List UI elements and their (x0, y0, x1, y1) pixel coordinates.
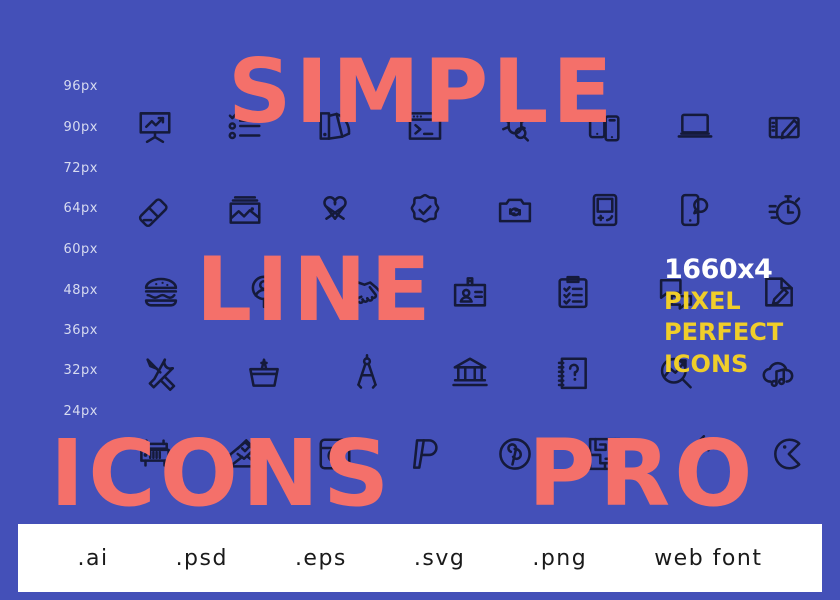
verified-badge-icon[interactable] (406, 191, 444, 229)
size-label-32: 32px (64, 363, 99, 378)
user-profile-icon[interactable] (245, 273, 283, 311)
format-webfont: web font (654, 546, 762, 571)
promo-block: 1660x4 PIXEL PERFECT ICONS (664, 254, 836, 379)
icon-count-label: 1660x4 (664, 254, 836, 285)
color-swatch-icon[interactable] (316, 107, 354, 145)
size-label-24: 24px (64, 404, 99, 419)
format-png: .png (532, 546, 587, 571)
checklist-icon[interactable] (226, 107, 264, 145)
icon-cell[interactable] (470, 182, 560, 238)
icon-cell[interactable] (316, 264, 419, 320)
terminal-window-icon[interactable] (406, 107, 444, 145)
format-eps: .eps (295, 546, 347, 571)
icon-cell[interactable] (740, 98, 830, 154)
eraser-icon[interactable] (136, 191, 174, 229)
stopwatch-icon[interactable] (766, 191, 804, 229)
paypal-icon[interactable] (406, 435, 444, 473)
basket-icon[interactable] (245, 354, 283, 392)
icon-cell[interactable] (740, 426, 830, 482)
icon-cell[interactable] (110, 182, 200, 238)
size-label-90: 90px (64, 120, 99, 135)
format-ai: .ai (77, 546, 108, 571)
icon-row-1 (110, 98, 830, 154)
instagram-icon[interactable] (316, 435, 354, 473)
icon-cell[interactable] (110, 426, 200, 482)
size-label-96: 96px (64, 79, 99, 94)
jeep-icon[interactable] (136, 435, 174, 473)
icon-cell[interactable] (110, 345, 213, 401)
icon-cell[interactable] (213, 345, 316, 401)
icon-cell[interactable] (200, 98, 290, 154)
bug-search-icon[interactable] (496, 107, 534, 145)
promo-line-pixel: PIXEL (664, 287, 836, 316)
rocket-arrow-icon[interactable] (676, 435, 714, 473)
pacman-icon[interactable] (766, 435, 804, 473)
icon-row-5 (110, 426, 830, 482)
graphics-tablet-icon[interactable] (766, 107, 804, 145)
icon-cell[interactable] (316, 345, 419, 401)
handheld-console-icon[interactable] (586, 191, 624, 229)
icon-cell[interactable] (200, 426, 290, 482)
icon-cell[interactable] (380, 426, 470, 482)
icon-cell[interactable] (290, 182, 380, 238)
icon-cell[interactable] (380, 98, 470, 154)
format-svg: .svg (414, 546, 465, 571)
phone-chat-icon[interactable] (676, 191, 714, 229)
mobile-devices-icon[interactable] (586, 107, 624, 145)
icon-cell[interactable] (380, 182, 470, 238)
icon-cell[interactable] (470, 426, 560, 482)
pretzel-icon[interactable] (316, 191, 354, 229)
file-formats-bar: .ai .psd .eps .svg .png web font (18, 524, 822, 592)
icon-cell[interactable] (290, 98, 380, 154)
poster-canvas: 96px 90px 72px 64px 60px 48px 36px 32px … (0, 0, 840, 600)
camera-refresh-icon[interactable] (496, 191, 534, 229)
icon-cell[interactable] (560, 182, 650, 238)
handshake-icon[interactable] (348, 273, 386, 311)
icon-cell[interactable] (110, 98, 200, 154)
icon-cell[interactable] (110, 264, 213, 320)
pinterest-icon[interactable] (496, 435, 534, 473)
size-label-60: 60px (64, 242, 99, 257)
size-label-72: 72px (64, 161, 99, 176)
icon-cell[interactable] (740, 182, 830, 238)
icon-cell[interactable] (213, 264, 316, 320)
icon-cell[interactable] (290, 426, 380, 482)
icon-cell[interactable] (419, 264, 522, 320)
id-badge-icon[interactable] (451, 273, 489, 311)
icon-cell[interactable] (470, 98, 560, 154)
clipboard-checklist-icon[interactable] (554, 273, 592, 311)
promo-line-icons: ICONS (664, 350, 836, 379)
icon-cell[interactable] (560, 426, 650, 482)
size-label-64: 64px (64, 201, 99, 216)
photo-stack-icon[interactable] (226, 191, 264, 229)
maze-icon[interactable] (586, 435, 624, 473)
size-label-48: 48px (64, 283, 99, 298)
size-scale-column: 96px 90px 72px 64px 60px 48px 36px 32px … (0, 0, 110, 430)
icon-row-2 (110, 182, 830, 238)
icon-cell[interactable] (419, 345, 522, 401)
icon-cell[interactable] (200, 182, 290, 238)
icon-cell[interactable] (521, 345, 624, 401)
bank-icon[interactable] (451, 354, 489, 392)
open-mail-check-icon[interactable] (226, 435, 264, 473)
icon-cell[interactable] (650, 182, 740, 238)
size-label-36: 36px (64, 323, 99, 338)
icon-cell[interactable] (650, 426, 740, 482)
tools-icon[interactable] (142, 354, 180, 392)
compass-divider-icon[interactable] (348, 354, 386, 392)
presentation-chart-icon[interactable] (136, 107, 174, 145)
burger-icon[interactable] (142, 273, 180, 311)
format-psd: .psd (176, 546, 228, 571)
promo-line-perfect: PERFECT (664, 318, 836, 347)
icon-cell[interactable] (521, 264, 624, 320)
laptop-icon[interactable] (676, 107, 714, 145)
faq-notebook-icon[interactable] (554, 354, 592, 392)
icon-cell[interactable] (560, 98, 650, 154)
icon-cell[interactable] (650, 98, 740, 154)
